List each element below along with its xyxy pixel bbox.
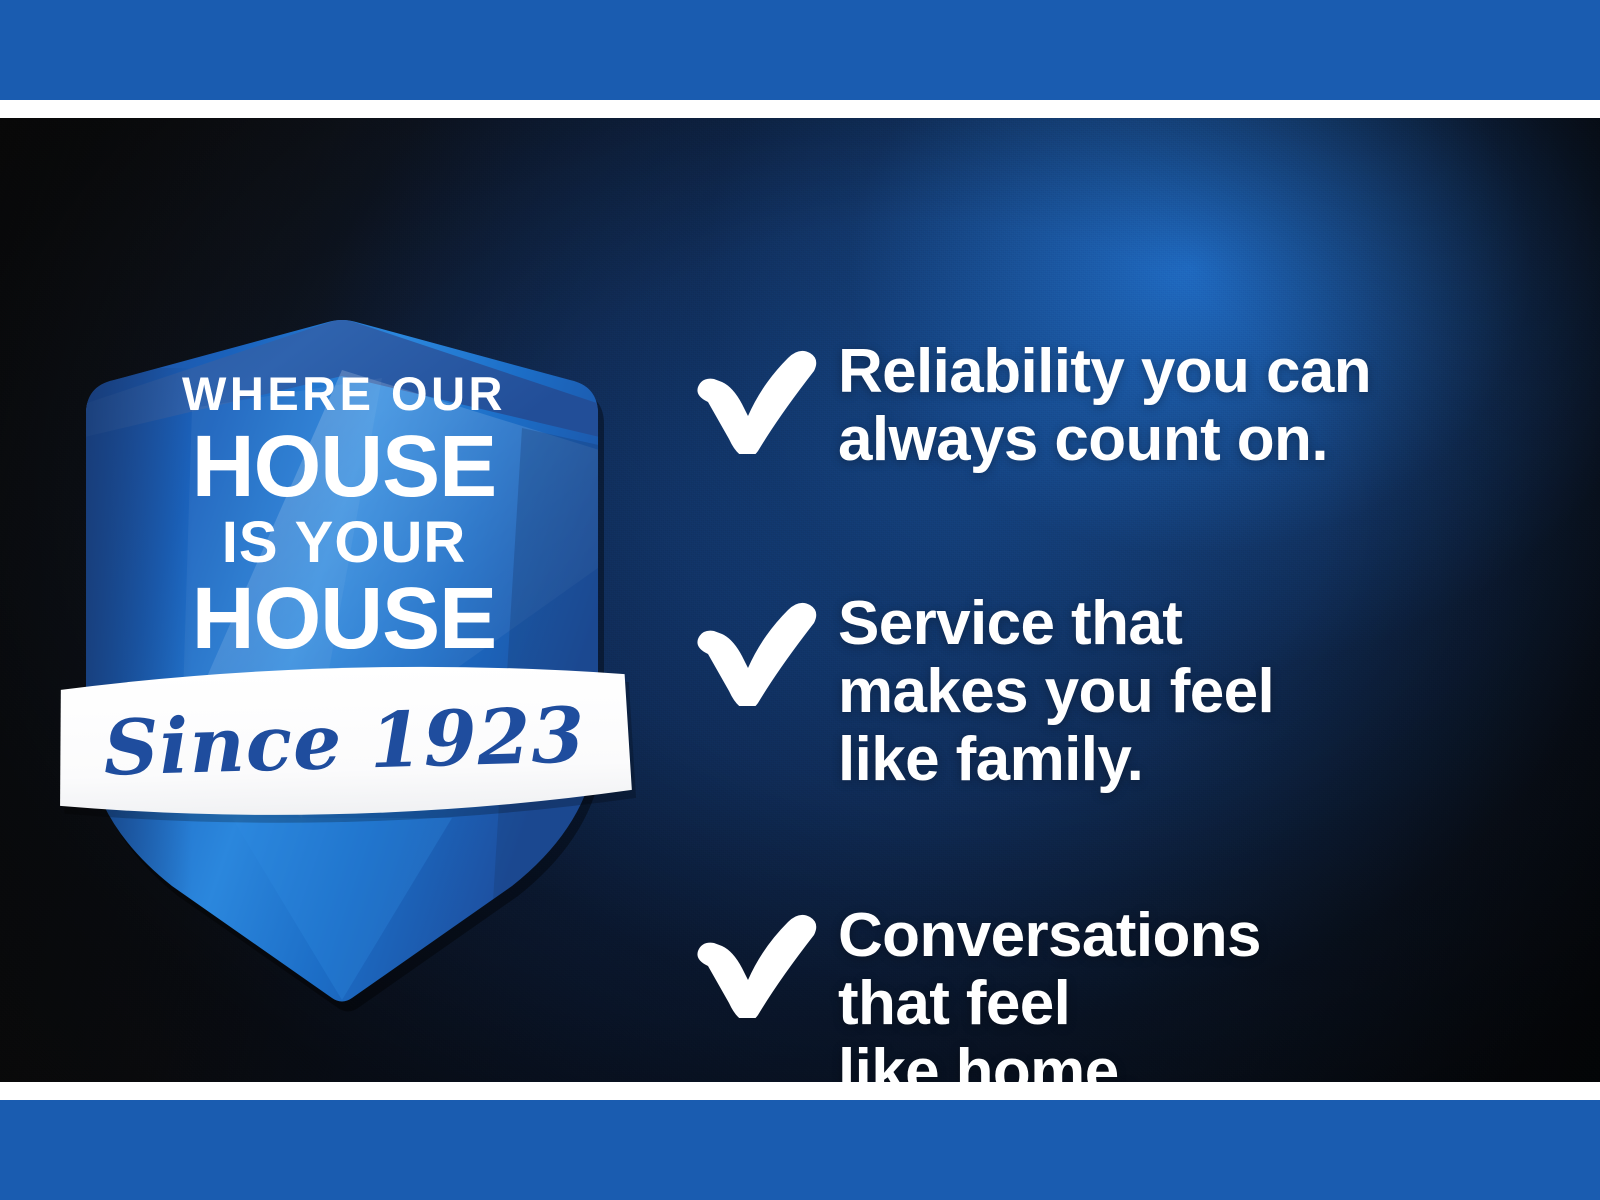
check-icon bbox=[678, 334, 828, 454]
ribbon-text: Since 1923 bbox=[102, 690, 586, 792]
list-item: Conversations that feel like home. bbox=[678, 898, 1261, 1082]
list-item-text: Reliability you can always count on. bbox=[838, 334, 1371, 474]
check-icon bbox=[678, 898, 828, 1018]
check-icon bbox=[678, 586, 828, 706]
badge-line-4: HOUSE bbox=[192, 570, 496, 667]
brand-shield-badge: WHERE OUR HOUSE IS YOUR HOUSE Since 1923 bbox=[52, 258, 632, 938]
badge-line-1: WHERE OUR bbox=[182, 367, 506, 420]
list-item-text: Conversations that feel like home. bbox=[838, 898, 1261, 1082]
bottom-white-separator bbox=[0, 1082, 1600, 1100]
list-item: Reliability you can always count on. bbox=[678, 334, 1371, 474]
top-white-separator bbox=[0, 100, 1600, 118]
main-panel: WHERE OUR HOUSE IS YOUR HOUSE Since 1923 bbox=[0, 118, 1600, 1082]
list-item-text: Service that makes you feel like family. bbox=[838, 586, 1274, 795]
benefits-list: Reliability you can always count on. Ser… bbox=[660, 236, 1480, 1082]
badge-line-3: IS YOUR bbox=[222, 510, 466, 575]
top-accent-bar bbox=[0, 0, 1600, 100]
list-item: Service that makes you feel like family. bbox=[678, 586, 1274, 795]
badge-line-2: HOUSE bbox=[192, 418, 496, 515]
badge-ribbon: Since 1923 bbox=[56, 660, 636, 830]
promo-graphic: WHERE OUR HOUSE IS YOUR HOUSE Since 1923 bbox=[0, 0, 1600, 1200]
bottom-accent-bar bbox=[0, 1100, 1600, 1200]
